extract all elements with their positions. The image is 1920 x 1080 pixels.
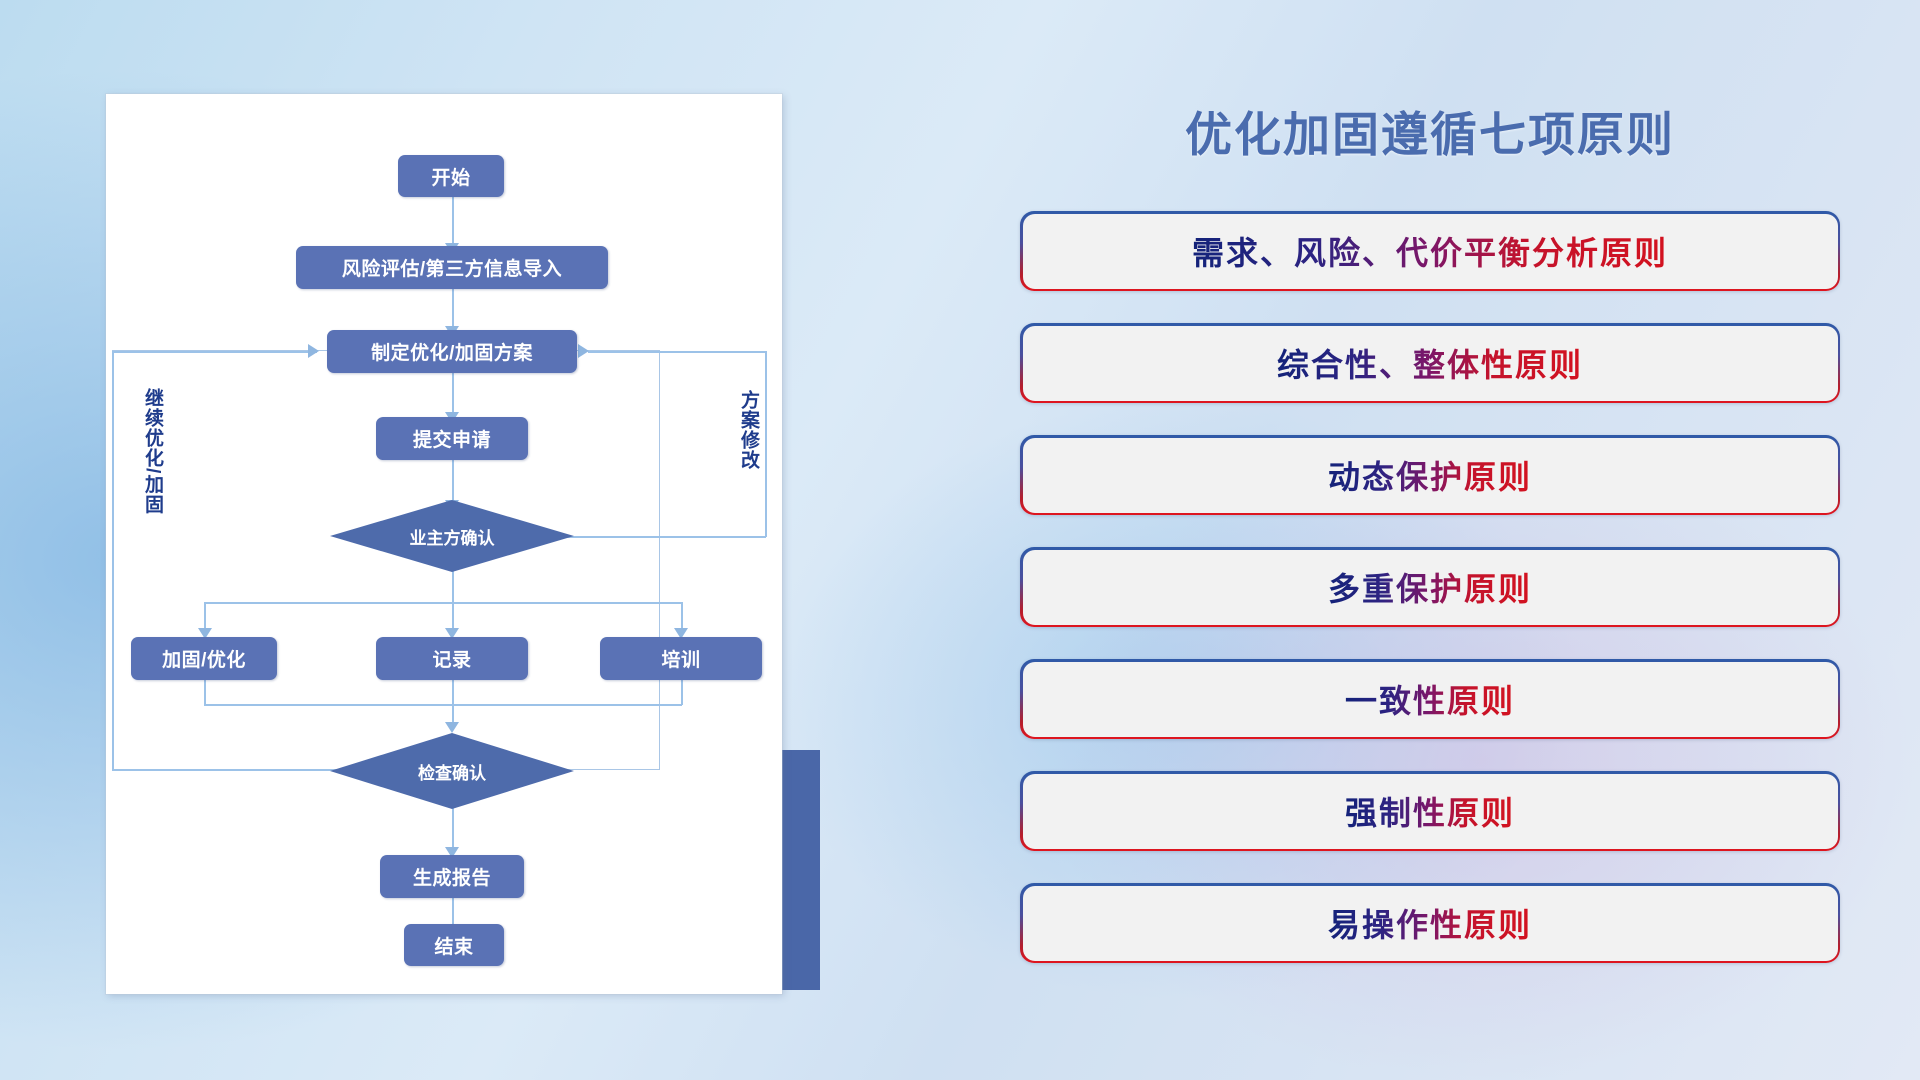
principle-inner-3: 动态保护原则 [1023,438,1838,513]
connector-right-up [765,351,767,537]
connector-branch-bus [204,602,682,604]
flow-edge-label-right: 方案修改 [738,390,758,470]
connector-start-risk [452,196,454,248]
arrowhead-right-to-plan [578,344,589,358]
connector-merge-left [204,680,206,705]
arrowhead-merge-check [445,722,459,733]
principle-inner-7: 易操作性原则 [1023,886,1838,961]
arrowhead-left-to-plan [308,344,319,358]
principle-label-4: 多重保护原则 [1328,564,1532,610]
principle-label-1: 需求、风险、代价平衡分析原则 [1192,228,1668,274]
principle-card-6[interactable]: 强制性原则 [1020,771,1840,851]
connector-left-vertical [112,351,114,771]
flow-edge-label-left: 继续优化/加固 [142,388,162,514]
connector-owner-down [452,571,454,603]
principle-label-6: 强制性原则 [1345,788,1515,834]
connector-owner-right [566,536,766,538]
connector-merge-bus [204,704,682,706]
principle-card-5[interactable]: 一致性原则 [1020,659,1840,739]
flow-node-report[interactable]: 生成报告 [380,855,524,898]
principle-inner-5: 一致性原则 [1023,662,1838,737]
connector-merge-mid [452,680,454,726]
principle-label-2: 综合性、整体性原则 [1277,340,1583,386]
principle-card-7[interactable]: 易操作性原则 [1020,883,1840,963]
flow-node-plan[interactable]: 制定优化/加固方案 [327,330,577,373]
principle-card-2[interactable]: 综合性、整体性原则 [1020,323,1840,403]
flow-node-end[interactable]: 结束 [404,924,504,966]
connector-right-to-plan [588,351,766,353]
connector-check-report [452,808,454,852]
principle-card-1[interactable]: 需求、风险、代价平衡分析原则 [1020,211,1840,291]
principle-card-3[interactable]: 动态保护原则 [1020,435,1840,515]
flow-node-risk-assessment[interactable]: 风险评估/第三方信息导入 [296,246,608,289]
principle-card-4[interactable]: 多重保护原则 [1020,547,1840,627]
flowchart-loop-frame [112,350,660,770]
connector-risk-plan [452,287,454,331]
flow-node-training[interactable]: 培训 [600,637,762,680]
principles-panel: 优化加固遵循七项原则 需求、风险、代价平衡分析原则 综合性、整体性原则 动态保护… [1020,96,1840,995]
principle-inner-4: 多重保护原则 [1023,550,1838,625]
principle-inner-1: 需求、风险、代价平衡分析原则 [1023,214,1838,289]
principle-label-7: 易操作性原则 [1328,900,1532,946]
connector-merge-right [681,680,683,705]
panel-title: 优化加固遵循七项原则 [1020,96,1840,165]
principle-label-3: 动态保护原则 [1328,452,1532,498]
flow-node-start[interactable]: 开始 [398,155,504,197]
principle-label-5: 一致性原则 [1345,676,1515,722]
principle-inner-2: 综合性、整体性原则 [1023,326,1838,401]
flow-node-record[interactable]: 记录 [376,637,528,680]
flow-node-submit[interactable]: 提交申请 [376,417,528,460]
principle-inner-6: 强制性原则 [1023,774,1838,849]
connector-left-to-plan [112,351,317,353]
connector-check-left [112,769,334,771]
flow-node-harden[interactable]: 加固/优化 [131,637,277,680]
